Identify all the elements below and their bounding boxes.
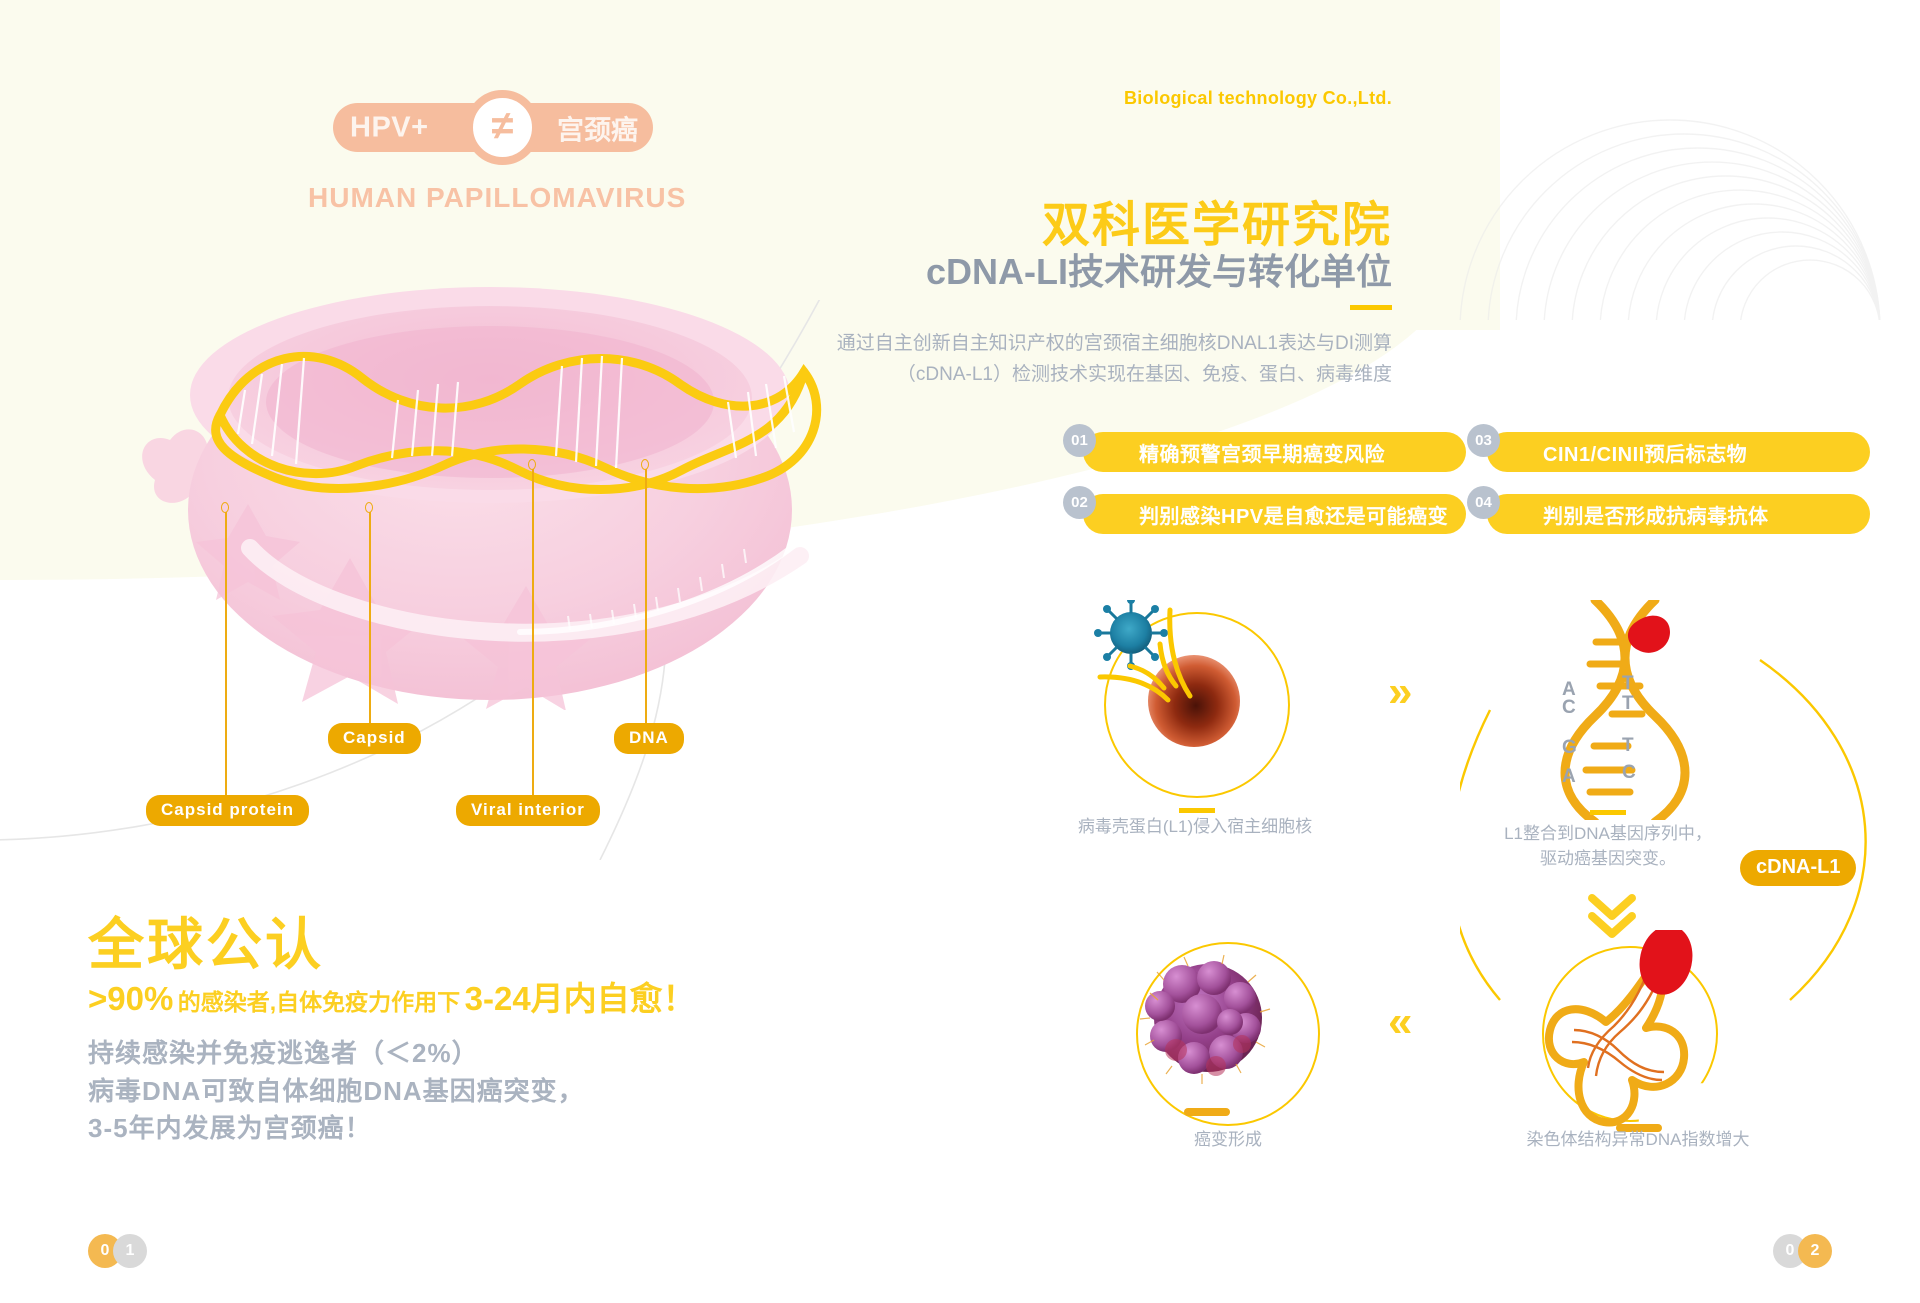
base-left-4: A <box>1562 766 1576 788</box>
leader-line-capsid-protein <box>225 512 227 800</box>
header-divider <box>1350 305 1392 310</box>
feature-pill-04[interactable]: 判别是否形成抗病毒抗体 <box>1487 494 1870 534</box>
institute-subtitle: cDNA-LI技术研发与转化单位 <box>926 243 1392 295</box>
feature-pill-01[interactable]: 精确预警宫颈早期癌变风险 <box>1083 432 1466 472</box>
stat-tail: 3-24月内自愈！ <box>465 980 696 1017</box>
feature-pill-03[interactable]: CIN1/CINII预后标志物 <box>1487 432 1870 472</box>
stat-line: >90% 的感染者,自体免疫力作用下 3-24月内自愈！ <box>88 982 696 1015</box>
label-viral-interior: Viral interior <box>456 795 600 826</box>
body-line-3: 3-5年内发展为宫颈癌！ <box>88 1110 585 1148</box>
not-equal-icon: ≠ <box>465 90 540 165</box>
leader-line-capsid <box>369 512 371 728</box>
base-left-2: C <box>1562 697 1576 719</box>
hpv-positive-label: HPV+ <box>350 111 429 144</box>
infographic-page: HPV+ 宫颈癌 ≠ HUMAN PAPILLOMAVIRUS <box>0 0 1920 1303</box>
page-left-second: 1 <box>113 1234 147 1268</box>
base-right-1: T <box>1622 673 1634 695</box>
page-right-second: 2 <box>1798 1234 1832 1268</box>
base-right-3: T <box>1622 735 1634 757</box>
arrow-left-icon: « <box>1388 1000 1412 1044</box>
step4-caption: 癌变形成 <box>1128 1128 1328 1153</box>
feature-pill-02[interactable]: 判别感染HPV是自愈还是可能癌变 <box>1083 494 1466 534</box>
virus-illustration <box>100 280 880 710</box>
feature-label-03: CIN1/CINII预后标志物 <box>1487 438 1747 467</box>
feature-label-02: 判别感染HPV是自愈还是可能癌变 <box>1083 500 1448 529</box>
base-right-2: T <box>1622 693 1634 715</box>
step1-caption-bar <box>1179 808 1215 813</box>
global-headline: 全球公认 <box>88 900 324 981</box>
feature-number-02: 02 <box>1063 486 1096 519</box>
body-paragraph: 持续感染并免疫逃逸者（＜2%） 病毒DNA可致自体细胞DNA基因癌突变， 3-5… <box>88 1035 585 1148</box>
cervical-cancer-label: 宫颈癌 <box>557 108 638 147</box>
step1-caption: 病毒壳蛋白(L1)侵入宿主细胞核 <box>1045 815 1345 840</box>
feature-label-01: 精确预警宫颈早期癌变风险 <box>1083 438 1385 467</box>
feature-label-04: 判别是否形成抗病毒抗体 <box>1487 500 1769 529</box>
body-line-2: 病毒DNA可致自体细胞DNA基因癌突变， <box>88 1073 585 1111</box>
label-dna: DNA <box>614 723 684 754</box>
stat-middle: 的感染者,自体免疫力作用下 <box>178 989 460 1015</box>
leader-line-viral-interior <box>532 469 534 800</box>
leader-line-dna <box>645 469 647 727</box>
step2-illustration <box>1520 600 1760 820</box>
base-left-3: G <box>1562 737 1577 759</box>
feature-number-01: 01 <box>1063 424 1096 457</box>
body-line-1: 持续感染并免疫逃逸者（＜2%） <box>88 1035 585 1073</box>
stat-lead: >90% <box>88 980 173 1017</box>
label-capsid-protein: Capsid protein <box>146 795 309 826</box>
page-indicator-left: 0 1 <box>88 1234 147 1268</box>
base-right-4: C <box>1622 762 1636 784</box>
arrow-right-icon: » <box>1388 670 1412 714</box>
cdna-l1-badge: cDNA-L1 <box>1740 850 1856 886</box>
step4-illustration <box>1130 940 1330 1140</box>
step3-illustration <box>1528 930 1748 1145</box>
step1-illustration <box>1090 600 1310 810</box>
institute-description: 通过自主创新自主知识产权的宫颈宿主细胞核DNAL1表达与DI测算 （cDNA-L… <box>822 328 1392 391</box>
feature-number-04: 04 <box>1467 486 1500 519</box>
feature-number-03: 03 <box>1467 424 1500 457</box>
not-equal-glyph: ≠ <box>492 106 514 146</box>
label-capsid: Capsid <box>328 723 421 754</box>
page-indicator-right: 0 2 <box>1773 1234 1832 1268</box>
company-name: Biological technology Co.,Ltd. <box>1124 88 1392 109</box>
arrow-down-icon <box>1582 890 1642 946</box>
description-line-2: （cDNA-L1）检测技术实现在基因、免疫、蛋白、病毒维度 <box>822 359 1392 390</box>
step2-caption: L1整合到DNA基因序列中， 驱动癌基因突变。 <box>1458 822 1758 871</box>
step3-caption: 染色体结构异常DNA指数增大 <box>1478 1128 1798 1153</box>
description-line-1: 通过自主创新自主知识产权的宫颈宿主细胞核DNAL1表达与DI测算 <box>822 328 1392 359</box>
step2-caption-bar <box>1590 810 1626 815</box>
hpv-subtitle: HUMAN PAPILLOMAVIRUS <box>308 182 686 214</box>
